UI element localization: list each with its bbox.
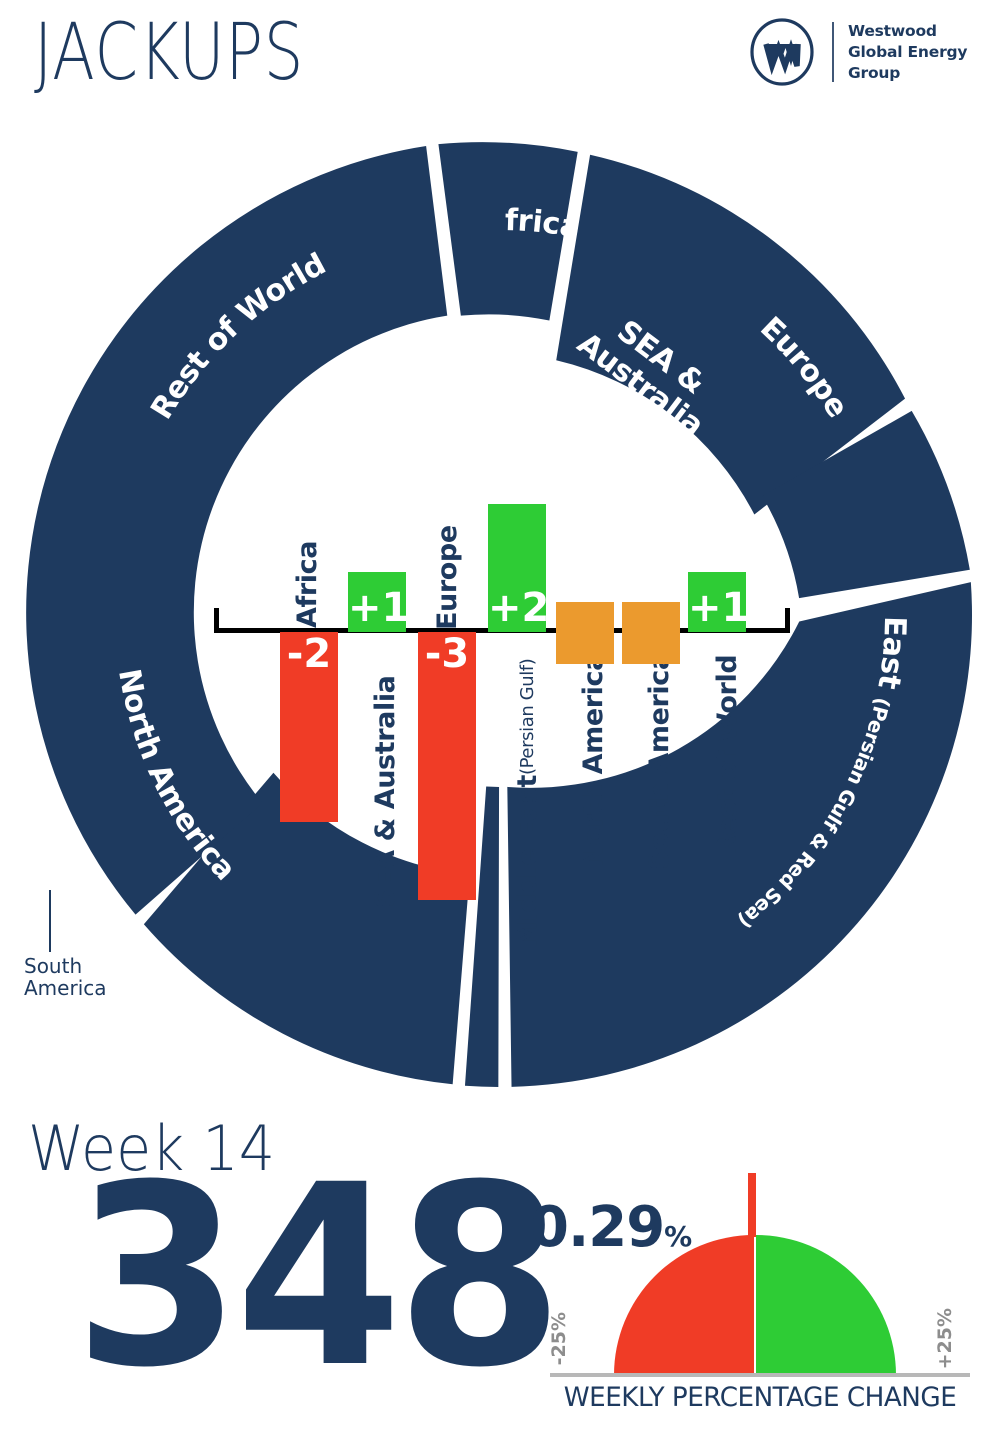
bar-value-rest-of-world: +1	[688, 588, 746, 628]
logo-circle-w-icon	[748, 18, 816, 86]
logo-line-3: Group	[848, 63, 967, 84]
weekly-change-bar-chart: Africa -2 SEA & Australia +1 Europe -3 M…	[200, 480, 810, 950]
logo-wordmark: Westwood Global Energy Group	[848, 21, 967, 84]
bar-value-sea-australia: +1	[348, 588, 406, 628]
sa-callout-line-2: America	[24, 977, 144, 999]
gauge-negative-half	[614, 1235, 754, 1375]
south-america-callout-label: South America	[24, 955, 144, 999]
gauge-min-label: -25%	[548, 1312, 570, 1365]
bar-africa[interactable]: -2	[280, 632, 338, 822]
bar-category-north-america: North America	[578, 638, 609, 868]
bar-category-sea-australia: SEA & Australia	[370, 638, 401, 908]
bar-category-africa: Africa	[292, 532, 323, 628]
weekly-percentage-change-gauge: 0.29% -25% +25% WEEKLY PERCENTAGE CHANGE	[520, 1160, 1000, 1439]
bar-category-europe: Europe	[432, 526, 463, 630]
bar-middle-east[interactable]: +2	[488, 504, 546, 632]
bar-chart-axis-cap-right	[785, 608, 790, 633]
bar-sea-australia[interactable]: +1	[348, 572, 406, 632]
page-title: JACKUPS	[34, 14, 304, 92]
logo-line-2: Global Energy	[848, 42, 967, 63]
bar-value-africa: -2	[280, 634, 338, 674]
westwood-logo: Westwood Global Energy Group	[748, 14, 948, 92]
gauge-caption: WEEKLY PERCENTAGE CHANGE	[556, 1382, 963, 1413]
bar-north-america[interactable]	[556, 602, 614, 664]
gauge-needle	[748, 1173, 756, 1237]
logo-line-1: Westwood	[848, 21, 967, 42]
bar-category-south-america: South America	[644, 638, 675, 870]
sa-callout-line-1: South	[24, 955, 144, 977]
gauge-max-label: +25%	[934, 1308, 956, 1369]
bar-chart-axis-cap-left	[214, 608, 219, 633]
bar-category-middle-east: Middle East(Persian Gulf)	[512, 638, 543, 948]
bar-category-rest-of-world: Rest of World	[712, 638, 743, 856]
gauge-positive-half	[756, 1235, 896, 1375]
bar-europe[interactable]: -3	[418, 632, 476, 900]
bar-value-middle-east: +2	[488, 588, 546, 628]
bar-south-america[interactable]	[622, 602, 680, 664]
logo-divider	[832, 22, 834, 82]
total-value: 348	[74, 1152, 558, 1402]
bar-value-europe: -3	[418, 634, 476, 674]
gauge-baseline	[550, 1373, 970, 1377]
bar-rest-of-world[interactable]: +1	[688, 572, 746, 632]
south-america-leader-line	[49, 890, 51, 952]
